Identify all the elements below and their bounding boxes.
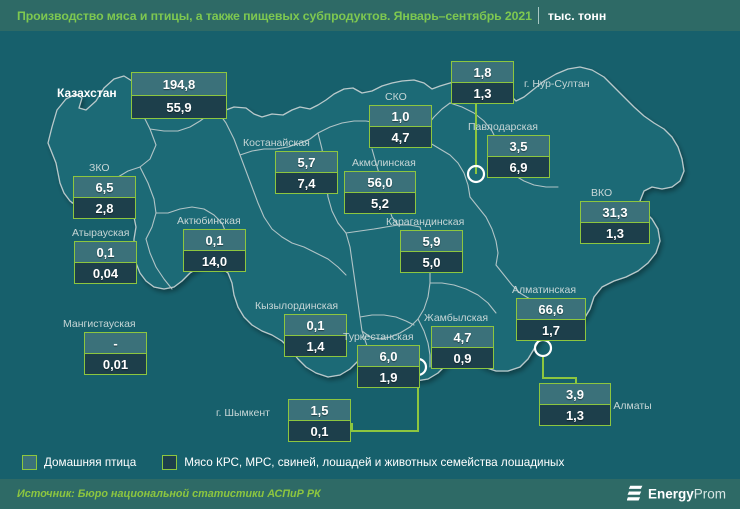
value-almaty-city-meat: 1,3 [539, 404, 611, 426]
value-mangystau-meat: 0,01 [84, 353, 147, 375]
footer-bar: Источник: Бюро национальной статистики А… [0, 479, 740, 509]
legend-label-poultry: Домашняя птица [44, 456, 136, 469]
value-kazakhstan-meat: 55,9 [131, 95, 227, 119]
city-dot-almaty [535, 340, 551, 356]
region-label-kostanay: Костанайская [243, 137, 310, 149]
region-label-almaty-oblast: Алматинская [512, 284, 576, 296]
value-akmola-meat: 5,2 [344, 192, 416, 214]
region-label-zhambyl: Жамбылская [424, 312, 488, 324]
region-label-atyrau: Атырауская [72, 227, 129, 239]
legend-item-poultry: Домашняя птица [22, 455, 136, 470]
value-akmola-poultry: 56,0 [344, 171, 416, 193]
region-label-karaganda: Карагандинская [386, 216, 464, 228]
value-zhambyl-meat: 0,9 [431, 347, 494, 369]
value-zko-meat: 2,8 [73, 197, 136, 219]
value-sko-meat: 4,7 [369, 126, 432, 148]
value-atyrau-poultry: 0,1 [74, 241, 137, 263]
region-label-almaty-city: г. Алматы [605, 400, 652, 412]
infographic-page: Производство мяса и птицы, а также пищев… [0, 0, 740, 509]
legend-label-meat: Мясо КРС, МРС, свиней, лошадей и животны… [184, 456, 564, 469]
region-label-zko: ЗКО [89, 162, 110, 174]
region-label-kyzylorda: Кызылординская [255, 300, 338, 312]
legend: Домашняя птица Мясо КРС, МРС, свиней, ло… [0, 445, 740, 479]
value-atyrau-meat: 0,04 [74, 262, 137, 284]
region-label-akmola: Акмолинская [352, 157, 416, 169]
logo-text: EnergyProm [648, 487, 726, 502]
value-aktobe-poultry: 0,1 [183, 229, 246, 251]
region-label-nursultan: г. Нур-Султан [524, 78, 590, 90]
value-vko-poultry: 31,3 [580, 201, 650, 223]
value-vko-meat: 1,3 [580, 222, 650, 244]
value-nursultan-meat: 1,3 [451, 82, 514, 104]
region-label-pavlodar: Павлодарская [468, 121, 538, 133]
value-karaganda-poultry: 5,9 [400, 230, 463, 252]
region-label-shymkent: г. Шымкент [216, 407, 270, 419]
legend-item-meat: Мясо КРС, МРС, свиней, лошадей и животны… [162, 455, 564, 470]
region-label-sko: СКО [385, 91, 407, 103]
value-almaty-oblast-poultry: 66,6 [516, 298, 586, 320]
value-kostanay-meat: 7,4 [275, 172, 338, 194]
logo-text-energy: Energy [648, 487, 694, 502]
value-pavlodar-poultry: 3,5 [487, 135, 550, 157]
value-sko-poultry: 1,0 [369, 105, 432, 127]
energyprom-e-icon [627, 485, 644, 504]
region-label-turkestan: Туркестанская [343, 331, 414, 343]
value-nursultan-poultry: 1,8 [451, 61, 514, 83]
region-label-mangystau: Мангистауская [63, 318, 136, 330]
value-mangystau-poultry: - [84, 332, 147, 354]
value-turkestan-poultry: 6,0 [357, 345, 420, 367]
value-pavlodar-meat: 6,9 [487, 156, 550, 178]
value-zhambyl-poultry: 4,7 [431, 326, 494, 348]
value-kazakhstan-poultry: 194,8 [131, 72, 227, 96]
value-almaty-oblast-meat: 1,7 [516, 319, 586, 341]
value-zko-poultry: 6,5 [73, 176, 136, 198]
value-kostanay-poultry: 5,7 [275, 151, 338, 173]
legend-swatch-meat-icon [162, 455, 177, 470]
region-label-kazakhstan: Казахстан [57, 86, 117, 100]
energyprom-logo[interactable]: EnergyProm [627, 485, 726, 504]
value-almaty-city-poultry: 3,9 [539, 383, 611, 405]
value-kyzylorda-poultry: 0,1 [284, 314, 347, 336]
header-bar: Производство мяса и птицы, а также пищев… [0, 0, 740, 31]
value-aktobe-meat: 14,0 [183, 250, 246, 272]
region-label-aktobe: Актюбинская [177, 215, 241, 227]
logo-text-prom: Prom [694, 487, 726, 502]
source-note: Источник: Бюро национальной статистики А… [0, 488, 321, 500]
value-shymkent-meat: 0,1 [288, 420, 351, 442]
kazakhstan-map: Казахстан 194,8 55,9 ЗКО 6,5 2,8 Атыраус… [0, 31, 740, 445]
value-karaganda-meat: 5,0 [400, 251, 463, 273]
region-label-vko: ВКО [591, 187, 612, 199]
value-shymkent-poultry: 1,5 [288, 399, 351, 421]
page-title: Производство мяса и птицы, а также пищев… [0, 9, 532, 23]
value-turkestan-meat: 1,9 [357, 366, 420, 388]
unit-label: тыс. тонн [548, 9, 606, 23]
value-kyzylorda-meat: 1,4 [284, 335, 347, 357]
header-divider [538, 7, 539, 24]
legend-swatch-poultry-icon [22, 455, 37, 470]
